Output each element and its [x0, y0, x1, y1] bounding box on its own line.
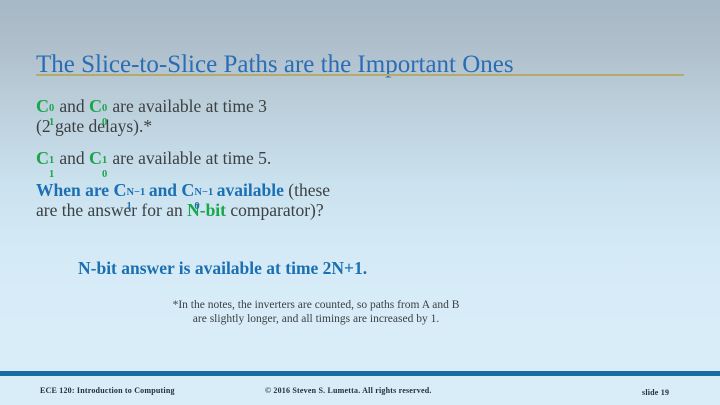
symbol-c1-0: C01 [36, 96, 55, 116]
subscript: 0 [194, 197, 199, 217]
footnote-line-2: are slightly longer, and all timings are… [36, 312, 596, 326]
body-block-1: C01 and C00 are available at time 3 (2 g… [36, 96, 684, 136]
subscript: 1 [126, 197, 131, 217]
answer-statement: N-bit answer is available at time 2N+1. [78, 258, 367, 279]
symbol-c0-0: C00 [89, 96, 108, 116]
footnote-line-1: *In the notes, the inverters are counted… [173, 299, 460, 311]
footer-course-label: ECE 120: Introduction to Computing [40, 386, 175, 395]
symbol-c1-1: C11 [36, 148, 55, 168]
parenthetical-open: (these [284, 180, 330, 200]
title-underline-rule [36, 74, 684, 76]
subscript: 1 [49, 165, 54, 185]
subscript: 0 [102, 165, 107, 185]
parenthetical-text-b: comparator)? [226, 200, 324, 220]
n-bit-emphasis: N-bit [187, 200, 226, 220]
subscript: 0 [102, 113, 107, 133]
block-3-second-line: are the answer for an N-bit comparator)? [36, 200, 684, 220]
slide-footer: ECE 120: Introduction to Computing © 201… [0, 376, 720, 405]
conjunction-and: and [55, 148, 89, 168]
conjunction-and: and [144, 180, 181, 200]
block-1-tail-text: are available at time 3 [108, 96, 267, 116]
available-word: available [212, 180, 283, 200]
footnote: *In the notes, the inverters are counted… [36, 298, 596, 326]
footer-copyright: © 2016 Steven S. Lumetta. All rights res… [265, 386, 432, 395]
block-1-second-line: (2 gate delays).* [36, 116, 684, 136]
body-block-3: When are CN−11 and CN−10 available (thes… [36, 180, 684, 220]
body-block-2: C11 and C10 are available at time 5. [36, 148, 684, 168]
slide-body: C01 and C00 are available at time 3 (2 g… [36, 92, 684, 220]
footer-slide-number: slide 19 [642, 388, 669, 397]
symbol-c1-nminus1: CN−11 [113, 180, 144, 200]
block-2-tail-text: are available at time 5. [108, 148, 271, 168]
symbol-c0-1: C10 [89, 148, 108, 168]
symbol-c0-nminus1: CN−10 [181, 180, 212, 200]
slide-canvas: The Slice-to-Slice Paths are the Importa… [0, 0, 720, 405]
conjunction-and: and [55, 96, 89, 116]
parenthetical-text-a: are the answer for an [36, 200, 187, 220]
subscript: 1 [49, 113, 54, 133]
